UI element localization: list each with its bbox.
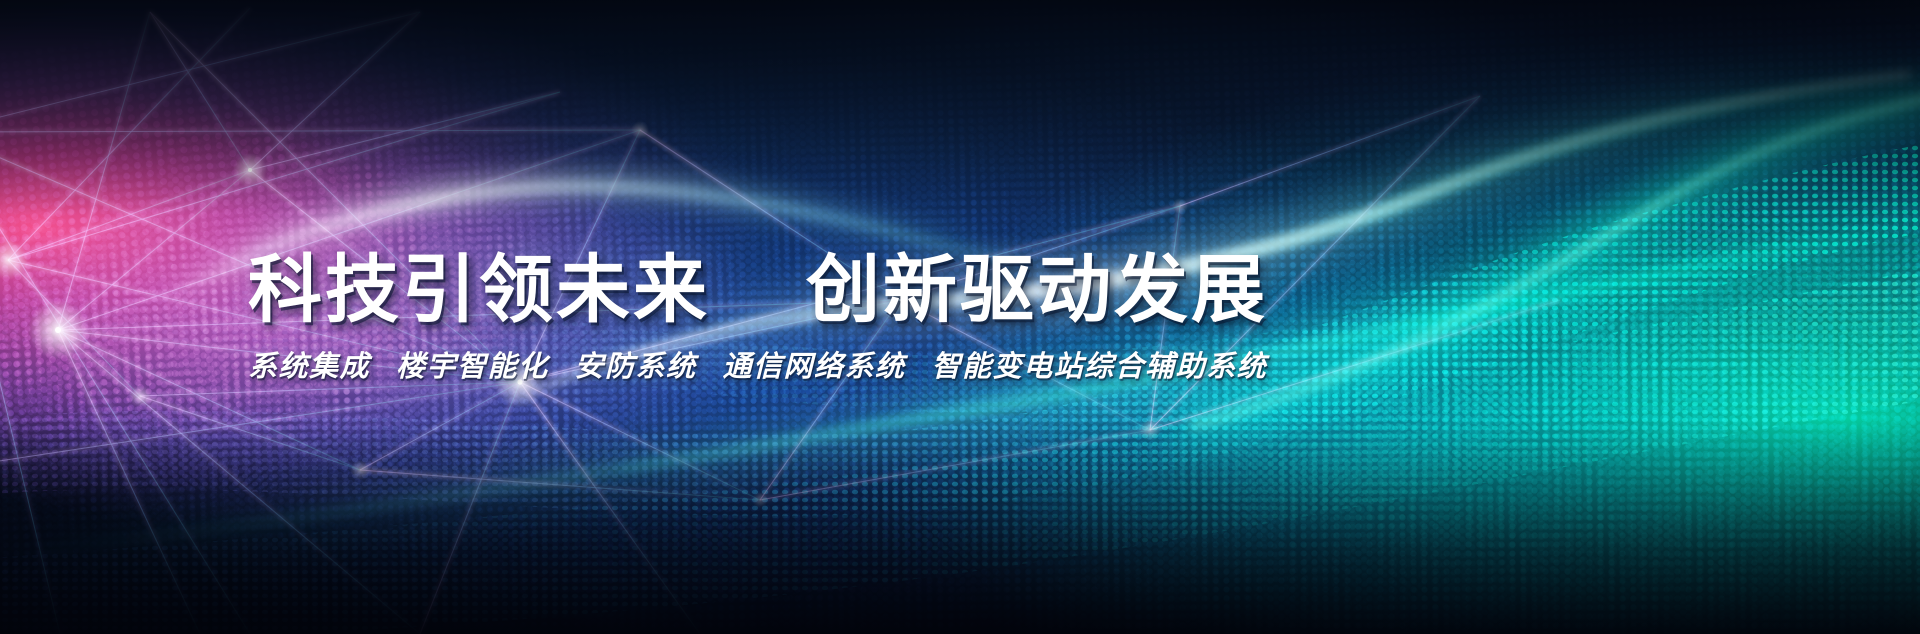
banner-text-block: 科技引领未来创新驱动发展 系统集成楼宇智能化安防系统通信网络系统智能变电站综合辅… (0, 0, 1920, 634)
title-phrase-2: 创新驱动发展 (806, 248, 1268, 331)
subtitle-item-2: 安防系统 (575, 351, 697, 383)
title-phrase-1: 科技引领未来 (248, 248, 710, 331)
banner-subtitle: 系统集成楼宇智能化安防系统通信网络系统智能变电站综合辅助系统 (248, 353, 1920, 382)
hero-banner: 科技引领未来创新驱动发展 系统集成楼宇智能化安防系统通信网络系统智能变电站综合辅… (0, 0, 1920, 634)
subtitle-item-4: 智能变电站综合辅助系统 (932, 351, 1268, 383)
banner-title: 科技引领未来创新驱动发展 (248, 253, 1920, 327)
subtitle-item-3: 通信网络系统 (723, 351, 906, 383)
subtitle-item-1: 楼宇智能化 (396, 351, 549, 383)
subtitle-item-0: 系统集成 (248, 351, 370, 383)
